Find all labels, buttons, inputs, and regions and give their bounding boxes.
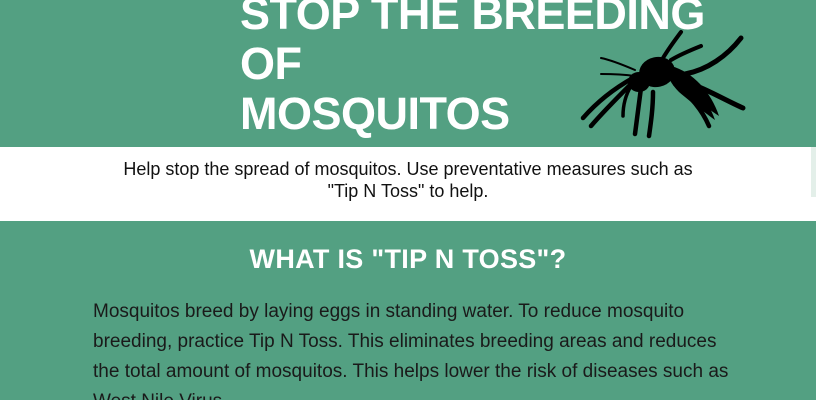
subtitle-band: Help stop the spread of mosquitos. Use p… bbox=[0, 147, 816, 221]
section-heading: WHAT IS "TIP N TOSS"? bbox=[0, 243, 816, 275]
infographic-page: STOP THE BREEDING OF MOSQUITOS bbox=[0, 0, 816, 400]
section-body-text: Mosquitos breed by laying eggs in standi… bbox=[93, 297, 741, 400]
content-section: WHAT IS "TIP N TOSS"? Mosquitos breed by… bbox=[0, 221, 816, 400]
subtitle-text: Help stop the spread of mosquitos. Use p… bbox=[0, 158, 816, 202]
hero-banner: STOP THE BREEDING OF MOSQUITOS bbox=[0, 0, 816, 147]
mosquito-icon bbox=[575, 26, 755, 144]
